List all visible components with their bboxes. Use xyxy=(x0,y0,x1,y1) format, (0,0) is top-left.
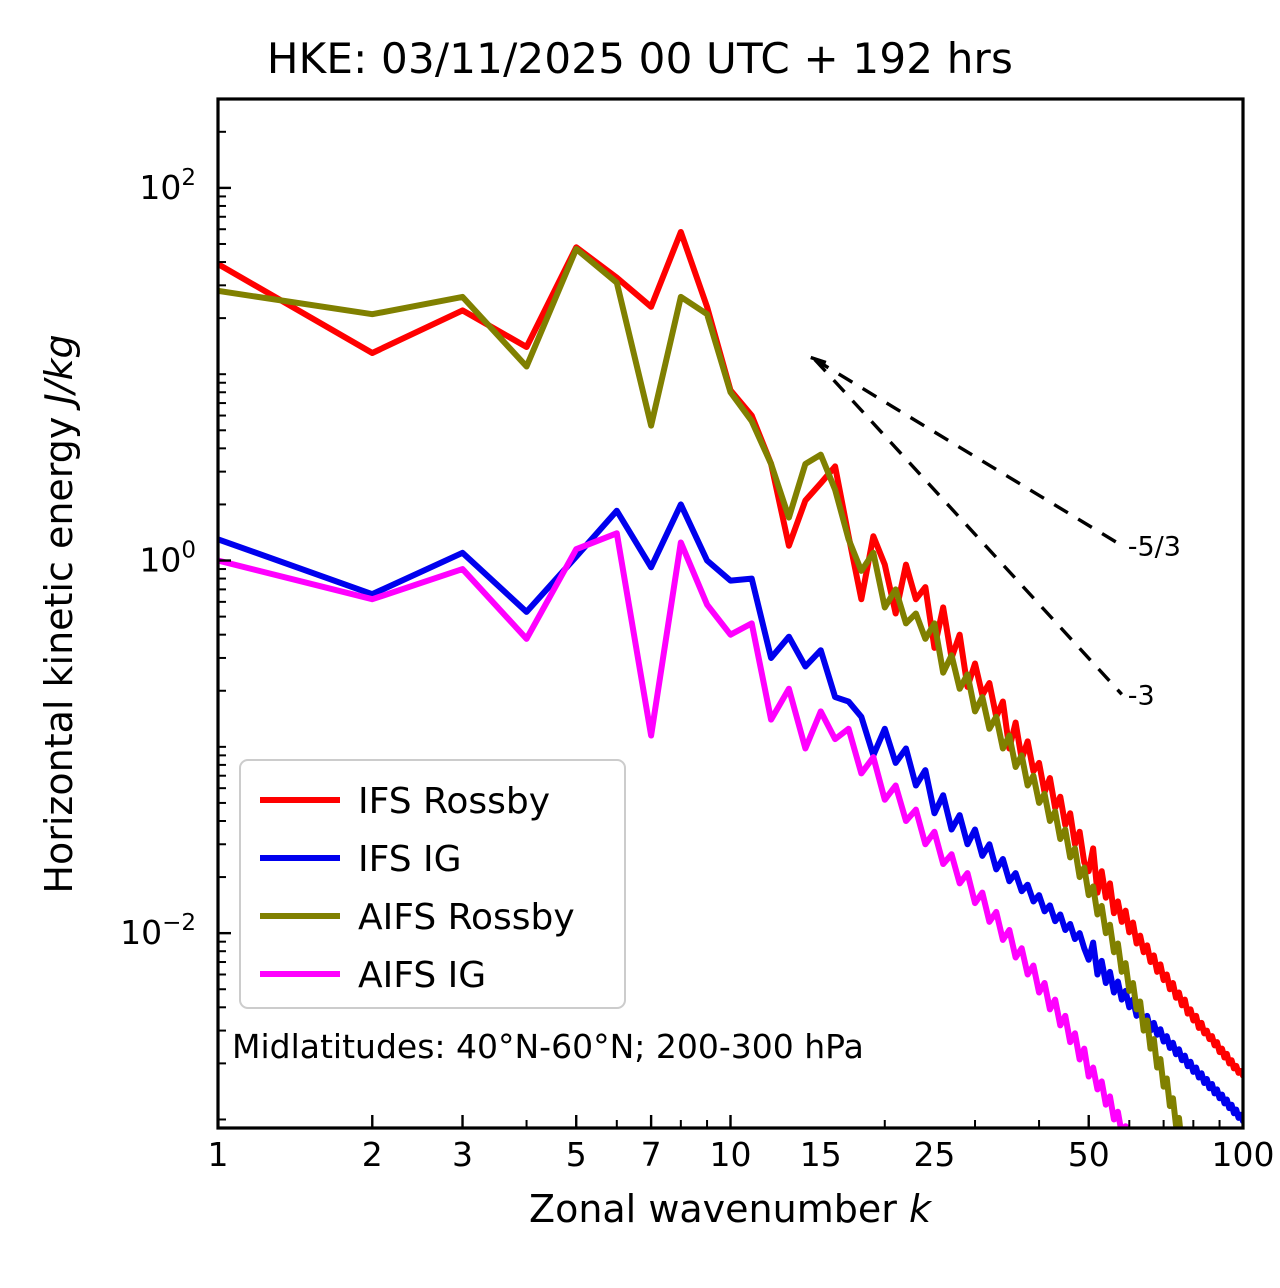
legend: IFS RossbyIFS IGAIFS RossbyAIFS IG xyxy=(240,760,625,1008)
x-tick-label: 100 xyxy=(1212,1135,1275,1174)
y-tick-label: 10−2 xyxy=(120,910,196,952)
y-tick-label: 102 xyxy=(139,165,196,207)
reference-slope-label--3: -3 xyxy=(1128,680,1155,711)
x-tick-label: 1 xyxy=(208,1135,229,1174)
legend-label-ifs-rossby: IFS Rossby xyxy=(358,781,550,822)
y-axis-title: Horizontal kinetic energy J/kg xyxy=(37,334,81,893)
x-tick-label: 10 xyxy=(710,1135,752,1174)
legend-label-aifs-rossby: AIFS Rossby xyxy=(358,897,575,938)
reference-lines-layer: -5/3-3 xyxy=(811,357,1181,711)
reference-slope-line--5-3 xyxy=(815,359,1122,545)
x-tick-label: 2 xyxy=(362,1135,383,1174)
chart-plot-area: -5/3-3 123571015255010010210010−2 IFS Ro… xyxy=(0,0,1280,1288)
x-tick-label: 50 xyxy=(1068,1135,1110,1174)
reference-slope-label--5-3: -5/3 xyxy=(1128,531,1181,562)
x-axis-title: Zonal wavenumber k xyxy=(529,1187,933,1231)
x-tick-label: 15 xyxy=(800,1135,842,1174)
x-tick-label: 7 xyxy=(641,1135,662,1174)
x-tick-label: 25 xyxy=(913,1135,955,1174)
chart-figure: HKE: 03/11/2025 00 UTC + 192 hrs -5/3-3 … xyxy=(0,0,1280,1288)
legend-label-aifs-ig: AIFS IG xyxy=(358,955,486,996)
legend-label-ifs-ig: IFS IG xyxy=(358,839,462,880)
reference-slope-line--3 xyxy=(815,359,1122,694)
y-tick-label: 100 xyxy=(139,538,196,580)
plot-annotation: Midlatitudes: 40°N-60°N; 200-300 hPa xyxy=(232,1027,864,1066)
x-tick-label: 3 xyxy=(452,1135,473,1174)
x-tick-label: 5 xyxy=(566,1135,587,1174)
